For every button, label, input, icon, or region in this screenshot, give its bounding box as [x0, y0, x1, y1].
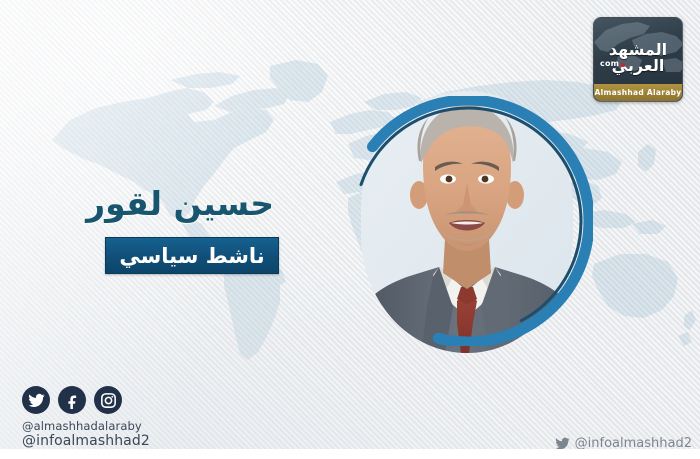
- social-icon-row: [22, 386, 150, 414]
- facebook-icon[interactable]: [58, 386, 86, 414]
- social-block: @almashhadalaraby @infoalmashhad2: [22, 386, 150, 451]
- portrait-block: [343, 96, 593, 346]
- social-handles: @almashhadalaraby @infoalmashhad2: [22, 419, 150, 451]
- brand-logo[interactable]: المشهد العربي com Almashhad Alaraby: [593, 17, 683, 102]
- person-name: حسين لقور: [0, 186, 290, 222]
- promo-card: حسين لقور ناشط سياسي المشهد العربي com A…: [0, 0, 700, 459]
- logo-latin-band: Almashhad Alaraby: [594, 84, 682, 101]
- twitter-icon[interactable]: [22, 386, 50, 414]
- bottom-white-bar: [0, 449, 700, 459]
- person-title-banner: ناشط سياسي: [105, 237, 279, 274]
- logo-latin-name: Almashhad Alaraby: [595, 88, 682, 97]
- logo-red-dot-icon: [621, 63, 625, 67]
- instagram-icon[interactable]: [94, 386, 122, 414]
- logo-com-label: com: [600, 59, 619, 68]
- handle-primary[interactable]: @almashhadalaraby: [22, 419, 150, 433]
- decorative-ring: [343, 96, 593, 346]
- person-title-text: ناشط سياسي: [119, 244, 264, 268]
